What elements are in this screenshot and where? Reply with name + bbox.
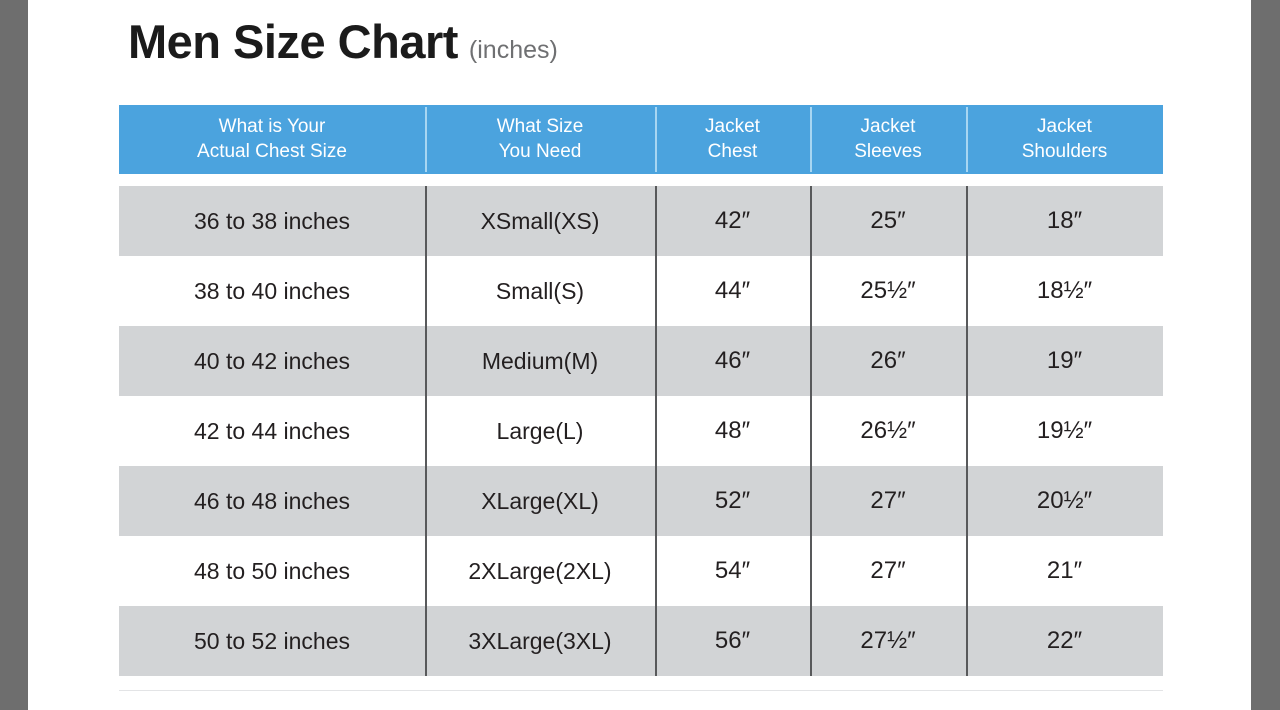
cell-jacket-shoulders: 22″ (966, 606, 1163, 676)
cell-jacket-sleeves: 27½″ (810, 606, 966, 676)
cell-jacket-shoulders: 18½″ (966, 256, 1163, 326)
cell-jacket-chest: 42″ (655, 186, 810, 256)
column-header-line2: You Need (499, 140, 582, 164)
cell-jacket-sleeves: 26″ (810, 326, 966, 396)
column-header-line2: Chest (708, 140, 758, 164)
cell-size-needed: 3XLarge(3XL) (425, 606, 655, 676)
table-body: 36 to 38 inches XSmall(XS) 42″ 25″ 18″ 3… (119, 186, 1163, 676)
chart-canvas: Men Size Chart (inches) What is Your Act… (28, 0, 1251, 710)
cell-size-needed: Medium(M) (425, 326, 655, 396)
table-row: 42 to 44 inches Large(L) 48″ 26½″ 19½″ (119, 396, 1163, 466)
cell-jacket-shoulders: 19½″ (966, 396, 1163, 466)
cell-chest-size: 48 to 50 inches (119, 536, 425, 606)
page-title: Men Size Chart (inches) (128, 18, 558, 65)
cell-size-needed: Small(S) (425, 256, 655, 326)
column-header-line1: What Size (497, 115, 584, 139)
cell-jacket-sleeves: 26½″ (810, 396, 966, 466)
cell-chest-size: 36 to 38 inches (119, 186, 425, 256)
cell-size-needed: XSmall(XS) (425, 186, 655, 256)
cell-jacket-shoulders: 20½″ (966, 466, 1163, 536)
letterbox-bar-left (0, 0, 28, 710)
cell-jacket-shoulders: 18″ (966, 186, 1163, 256)
cell-size-needed: 2XLarge(2XL) (425, 536, 655, 606)
cell-size-needed: Large(L) (425, 396, 655, 466)
column-header-jacket-chest: Jacket Chest (655, 105, 810, 174)
table-row: 38 to 40 inches Small(S) 44″ 25½″ 18½″ (119, 256, 1163, 326)
cell-jacket-chest: 54″ (655, 536, 810, 606)
cell-jacket-sleeves: 25½″ (810, 256, 966, 326)
column-header-jacket-shoulders: Jacket Shoulders (966, 105, 1163, 174)
column-header-line2: Sleeves (854, 140, 922, 164)
column-header-line2: Actual Chest Size (197, 140, 347, 164)
column-header-size-needed: What Size You Need (425, 105, 655, 174)
cell-chest-size: 38 to 40 inches (119, 256, 425, 326)
column-header-line1: Jacket (705, 115, 760, 139)
cell-jacket-chest: 56″ (655, 606, 810, 676)
table-row: 46 to 48 inches XLarge(XL) 52″ 27″ 20½″ (119, 466, 1163, 536)
cell-jacket-chest: 46″ (655, 326, 810, 396)
cell-size-needed: XLarge(XL) (425, 466, 655, 536)
column-header-line1: Jacket (1037, 115, 1092, 139)
cell-jacket-chest: 44″ (655, 256, 810, 326)
cell-jacket-sleeves: 27″ (810, 466, 966, 536)
cell-chest-size: 42 to 44 inches (119, 396, 425, 466)
cell-chest-size: 50 to 52 inches (119, 606, 425, 676)
table-row: 50 to 52 inches 3XLarge(3XL) 56″ 27½″ 22… (119, 606, 1163, 676)
table-row: 48 to 50 inches 2XLarge(2XL) 54″ 27″ 21″ (119, 536, 1163, 606)
page-title-unit: (inches) (469, 38, 558, 63)
cell-chest-size: 46 to 48 inches (119, 466, 425, 536)
cell-jacket-sleeves: 25″ (810, 186, 966, 256)
page-title-main: Men Size Chart (128, 18, 458, 65)
column-header-line1: Jacket (861, 115, 916, 139)
size-chart-table: What is Your Actual Chest Size What Size… (119, 105, 1163, 676)
cell-jacket-shoulders: 21″ (966, 536, 1163, 606)
column-header-line2: Shoulders (1022, 140, 1108, 164)
cell-jacket-chest: 48″ (655, 396, 810, 466)
cell-chest-size: 40 to 42 inches (119, 326, 425, 396)
table-bottom-rule (119, 690, 1163, 691)
cell-jacket-shoulders: 19″ (966, 326, 1163, 396)
table-row: 36 to 38 inches XSmall(XS) 42″ 25″ 18″ (119, 186, 1163, 256)
table-row: 40 to 42 inches Medium(M) 46″ 26″ 19″ (119, 326, 1163, 396)
letterbox-bar-right (1251, 0, 1280, 710)
column-header-jacket-sleeves: Jacket Sleeves (810, 105, 966, 174)
cell-jacket-sleeves: 27″ (810, 536, 966, 606)
column-header-line1: What is Your (219, 115, 326, 139)
table-header-row: What is Your Actual Chest Size What Size… (119, 105, 1163, 174)
column-header-chest-size: What is Your Actual Chest Size (119, 105, 425, 174)
cell-jacket-chest: 52″ (655, 466, 810, 536)
